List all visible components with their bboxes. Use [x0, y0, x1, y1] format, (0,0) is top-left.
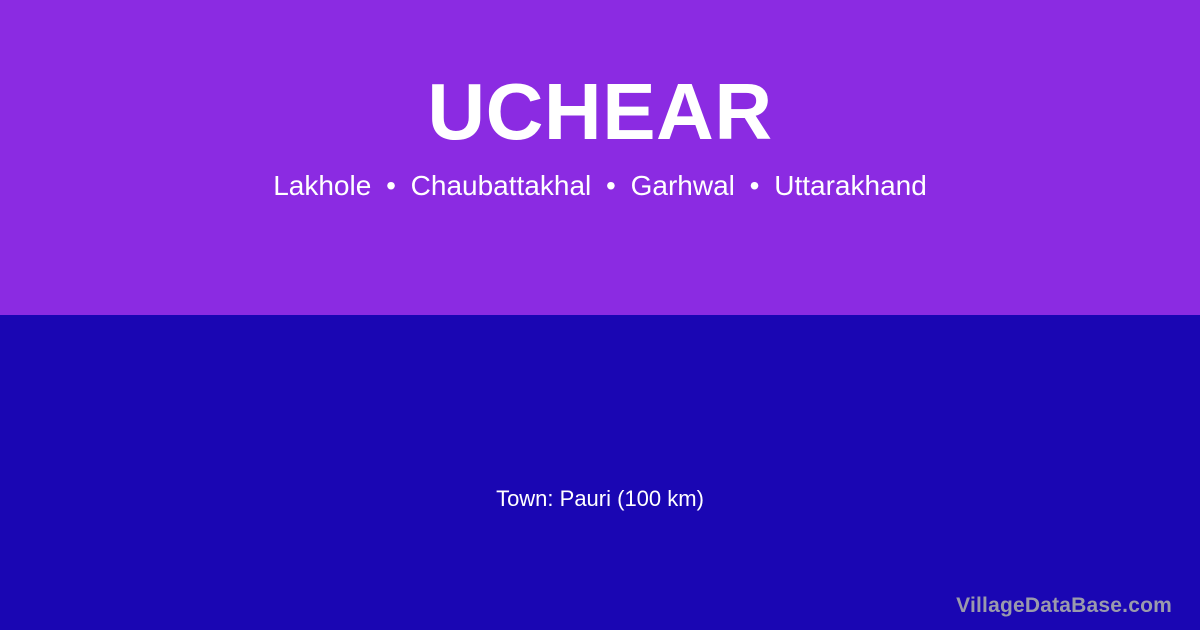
breadcrumb-item-state: Uttarakhand — [774, 170, 927, 201]
page-title: UCHEAR — [427, 72, 772, 152]
breadcrumb-separator-icon: • — [599, 170, 623, 201]
village-info-card: UCHEAR Lakhole • Chaubattakhal • Garhwal… — [0, 0, 1200, 630]
hero-banner: UCHEAR Lakhole • Chaubattakhal • Garhwal… — [0, 0, 1200, 315]
nearest-town-text: Town: Pauri (100 km) — [0, 488, 1200, 510]
breadcrumb-item-village: Lakhole — [273, 170, 371, 201]
breadcrumb-item-district: Garhwal — [631, 170, 735, 201]
breadcrumb: Lakhole • Chaubattakhal • Garhwal • Utta… — [273, 172, 927, 200]
breadcrumb-separator-icon: • — [743, 170, 767, 201]
breadcrumb-separator-icon: • — [379, 170, 403, 201]
site-watermark: VillageDataBase.com — [956, 595, 1172, 616]
detail-panel: Town: Pauri (100 km) VillageDataBase.com — [0, 315, 1200, 630]
breadcrumb-item-block: Chaubattakhal — [411, 170, 592, 201]
